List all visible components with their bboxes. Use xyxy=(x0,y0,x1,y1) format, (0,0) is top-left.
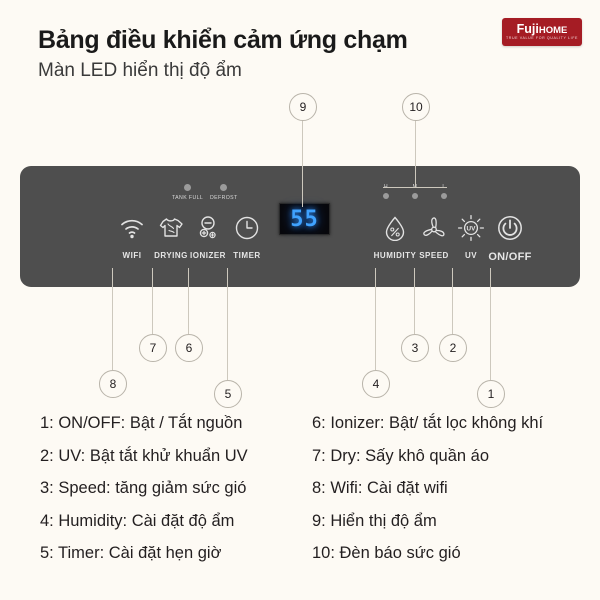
callout-3[interactable]: 3 xyxy=(401,334,429,362)
led-indicator-icon xyxy=(441,193,447,199)
leader-line-10-upper xyxy=(415,117,416,187)
legend-column-right: 6: Ionizer: Bật/ tắt lọc không khí 7: Dr… xyxy=(312,415,543,578)
callout-1[interactable]: 1 xyxy=(477,380,505,408)
legend-item: 1: ON/OFF: Bật / Tắt nguồn xyxy=(40,415,248,432)
power-icon xyxy=(496,211,524,245)
leader-line-1 xyxy=(490,268,491,380)
leader-line-5 xyxy=(227,268,228,380)
status-led-tank-full: TANK FULL xyxy=(172,184,203,201)
legend-item: 3: Speed: tăng giảm sức gió xyxy=(40,480,248,497)
leader-line-3 xyxy=(414,268,415,334)
callout-9[interactable]: 9 xyxy=(289,93,317,121)
status-led-defrost: DEFROST xyxy=(210,184,238,201)
button-label: TIMER xyxy=(233,251,260,260)
leader-line-2 xyxy=(452,268,453,334)
page-title: Bảng điều khiển cảm ứng chạm xyxy=(38,26,408,55)
leader-line-6 xyxy=(188,268,189,334)
clock-icon xyxy=(234,211,260,245)
button-label: ON/OFF xyxy=(488,251,531,263)
page-subtitle: Màn LED hiển thị độ ẩm xyxy=(38,60,242,82)
callout-8[interactable]: 8 xyxy=(99,370,127,398)
status-led-label: TANK FULL xyxy=(172,195,203,201)
brand-logo: FujiHOME TRUE VALUE FOR QUALITY LIFE xyxy=(502,18,582,46)
callout-7[interactable]: 7 xyxy=(139,334,167,362)
callout-4[interactable]: 4 xyxy=(362,370,390,398)
legend-item: 4: Humidity: Cài đặt độ ẩm xyxy=(40,513,248,530)
legend-item: 6: Ionizer: Bật/ tắt lọc không khí xyxy=(312,415,543,432)
legend-item: 7: Dry: Sấy khô quần áo xyxy=(312,448,543,465)
legend-column-left: 1: ON/OFF: Bật / Tắt nguồn 2: UV: Bật tắ… xyxy=(40,415,248,578)
legend-item: 9: Hiển thị độ ẩm xyxy=(312,513,543,530)
led-indicator-icon xyxy=(412,193,418,199)
leader-line-7 xyxy=(152,268,153,334)
button-label: WIFI xyxy=(123,251,142,260)
callout-6[interactable]: 6 xyxy=(175,334,203,362)
humidity-display-value: 55 xyxy=(290,207,319,232)
led-indicator-icon xyxy=(220,184,227,191)
svg-text:UV: UV xyxy=(467,226,477,233)
brand-logo-home: HOME xyxy=(539,25,568,36)
infographic-root: Bảng điều khiển cảm ứng chạm Màn LED hiể… xyxy=(0,0,600,600)
brand-logo-text: FujiHOME xyxy=(517,23,568,36)
leader-line-10-bar xyxy=(383,187,447,188)
button-onoff[interactable]: ON/OFF xyxy=(480,211,540,263)
humidity-display: 55 xyxy=(279,203,330,235)
led-indicator-icon xyxy=(383,193,389,199)
legend-item: 10: Đèn báo sức gió xyxy=(312,545,543,562)
callout-10[interactable]: 10 xyxy=(402,93,430,121)
brand-logo-tagline: TRUE VALUE FOR QUALITY LIFE xyxy=(506,37,578,41)
button-timer[interactable]: TIMER xyxy=(217,211,277,260)
status-led-label: DEFROST xyxy=(210,195,238,201)
legend-item: 5: Timer: Cài đặt hẹn giờ xyxy=(40,545,248,562)
brand-logo-fuji: Fuji xyxy=(517,22,539,36)
led-indicator-icon xyxy=(184,184,191,191)
legend-item: 2: UV: Bật tắt khử khuẩn UV xyxy=(40,448,248,465)
callout-2[interactable]: 2 xyxy=(439,334,467,362)
callout-5[interactable]: 5 xyxy=(214,380,242,408)
button-label: UV xyxy=(465,251,477,260)
leader-line-4 xyxy=(375,268,376,370)
legend-item: 8: Wifi: Cài đặt wifi xyxy=(312,480,543,497)
leader-line-9 xyxy=(302,117,303,207)
leader-line-8 xyxy=(112,268,113,370)
